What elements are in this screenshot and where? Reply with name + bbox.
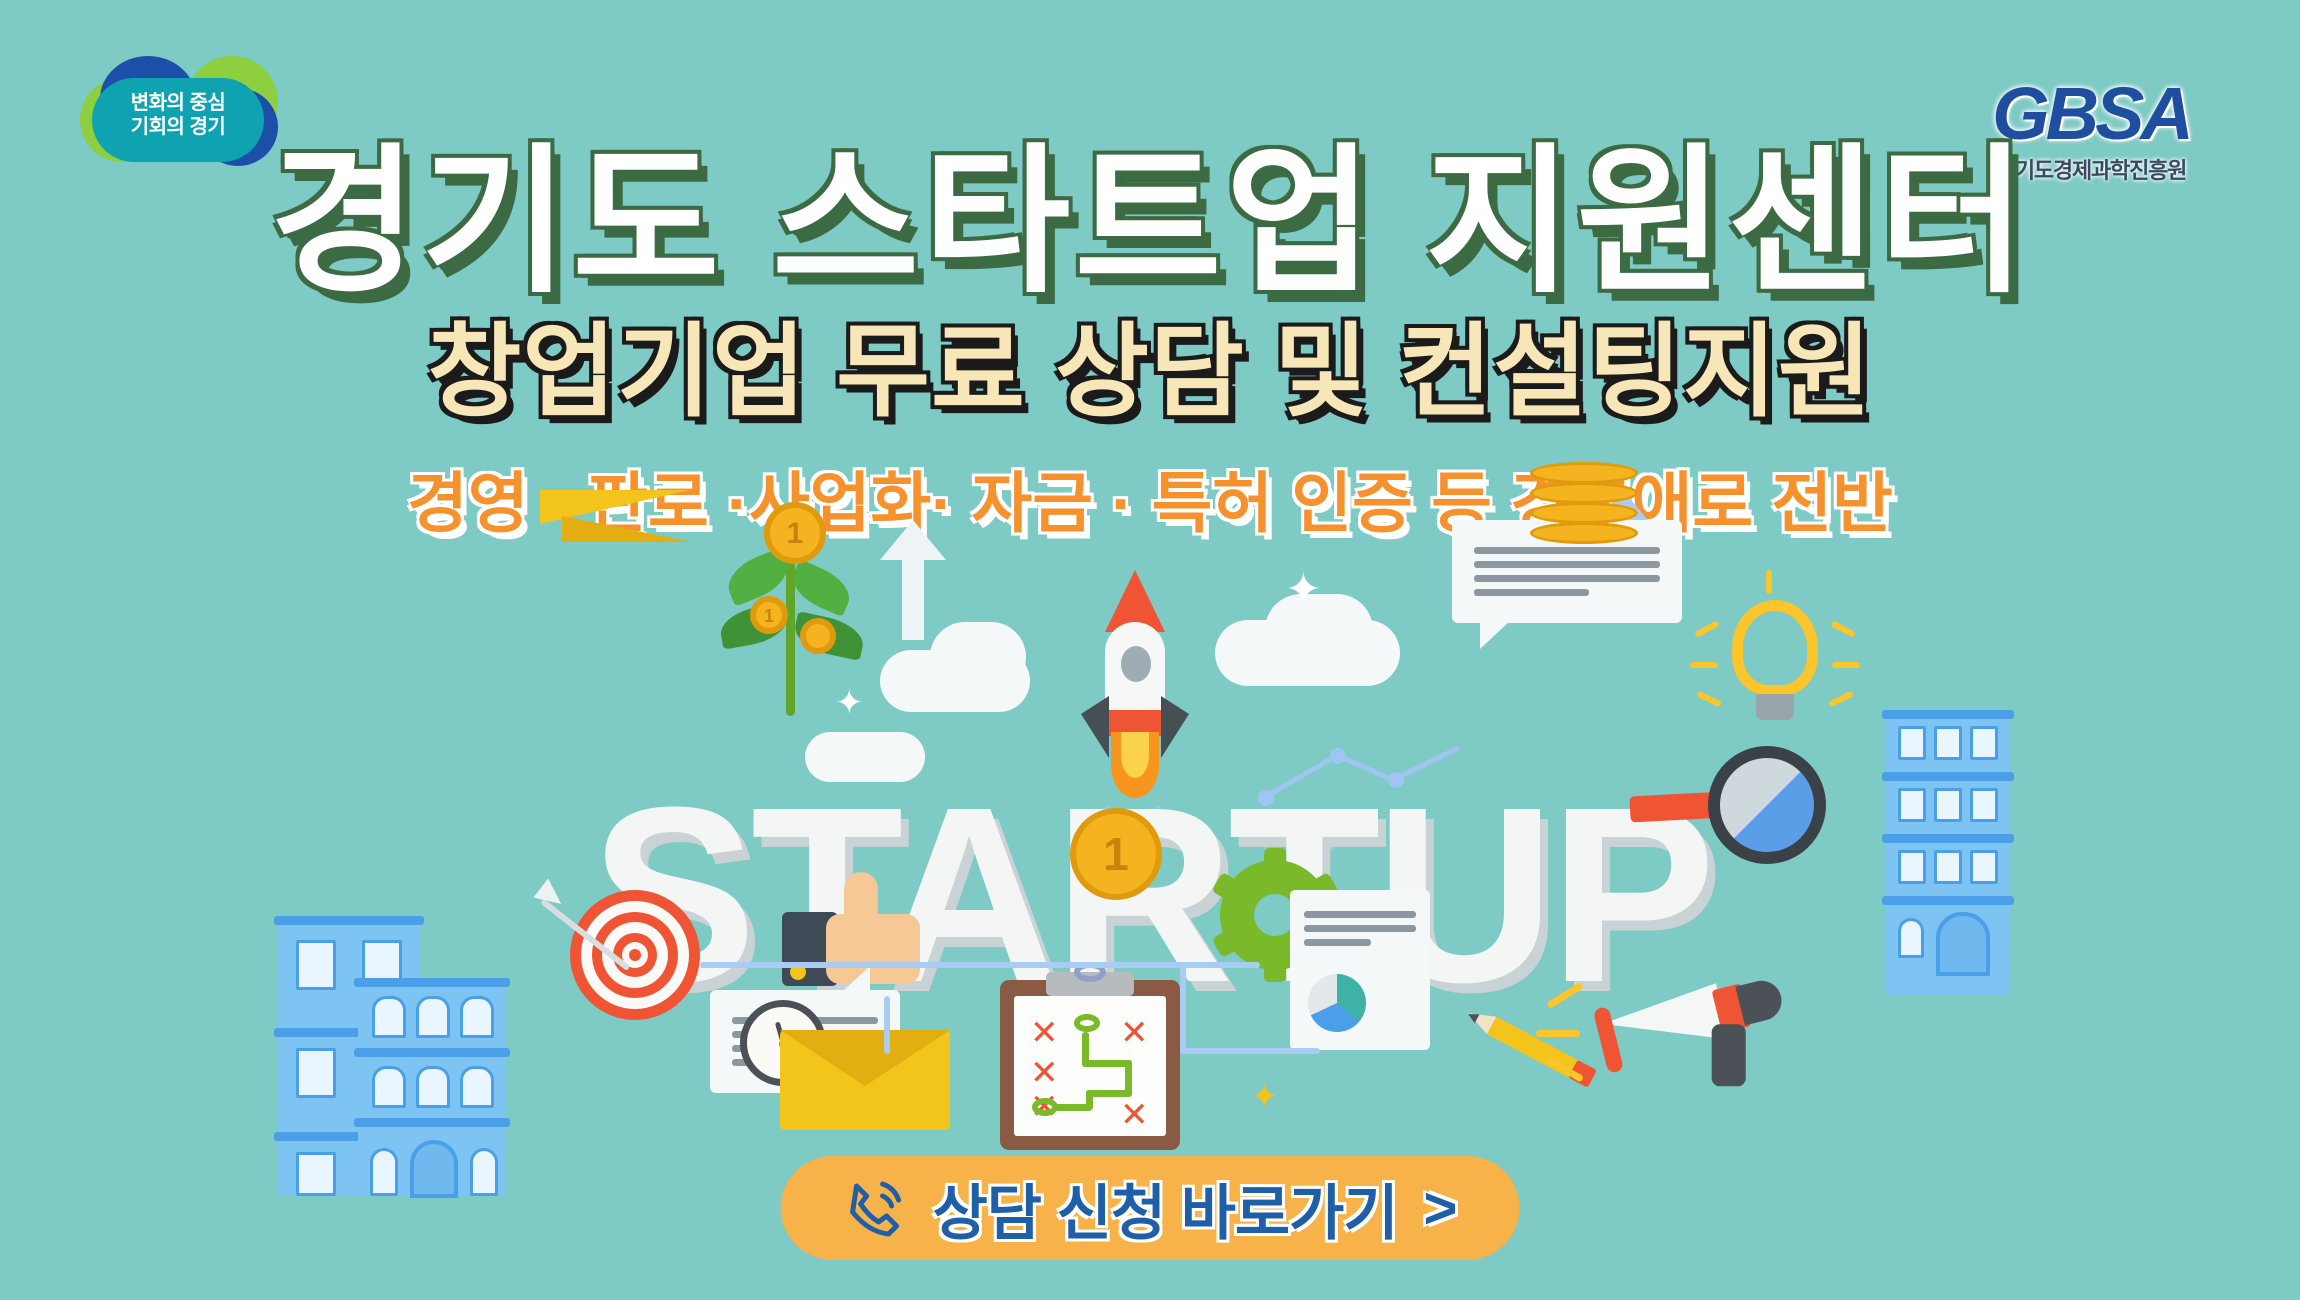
- cta-label: 상담 신청 바로가기: [933, 1165, 1398, 1252]
- logo-slogan: 변화의 중심 기회의 경기: [78, 92, 278, 139]
- building-icon: [1886, 710, 2010, 996]
- lightbulb-icon: [1720, 600, 1830, 740]
- magnifier-icon: [1630, 740, 1830, 870]
- headline-block: 경기도 스타트업 지원센터 창업기업 무료 상담 및 컨설팅지원 경영 · 판로…: [0, 140, 2300, 546]
- page-title: 경기도 스타트업 지원센터: [0, 140, 2300, 303]
- coin-stack-icon: [1530, 482, 1638, 504]
- logo-slogan-line1: 변화의 중심: [78, 92, 278, 116]
- sparkle-icon: ✦: [1285, 568, 1322, 612]
- coin-stack-icon: [1530, 462, 1638, 484]
- phone-icon: [843, 1176, 907, 1240]
- sparkle-icon: ✦: [835, 686, 864, 720]
- envelope-icon: [780, 1030, 950, 1130]
- coin-stack-icon: [1530, 502, 1638, 524]
- gold-coin-icon: 1: [1070, 808, 1162, 900]
- sparkle-icon: ✦: [1250, 1080, 1279, 1114]
- connector-line: [884, 996, 890, 1054]
- up-arrow-icon: [880, 520, 946, 640]
- connector-line: [700, 962, 1260, 968]
- illustration-stage: 1 1 ✦ ✦ ✦ ✦: [0, 560, 2300, 1200]
- logo-slogan-line2: 기회의 경기: [78, 116, 278, 140]
- building-icon: [358, 978, 506, 1196]
- service-tags: 경영 · 판로 ·사업화· 자금 · 특허 인증 등 경영애로 전반: [0, 450, 2300, 546]
- coin-stack-icon: [1530, 522, 1638, 544]
- page-subtitle: 창업기업 무료 상담 및 컨설팅지원: [0, 319, 2300, 426]
- chart-document-icon: [1290, 890, 1430, 1050]
- promo-banner: 변화의 중심 기회의 경기 GBSA 경기도경제과학진흥원 경기도 스타트업 지…: [0, 0, 2300, 1300]
- gold-coin-icon: 1: [764, 502, 826, 564]
- megaphone-ray: [1536, 1030, 1580, 1037]
- clipboard-icon: ✕ ✕ ✕ ✕ ✕: [1000, 980, 1180, 1150]
- chevron-right-icon: >: [1424, 1175, 1458, 1242]
- gold-coin-icon: [800, 618, 836, 654]
- connector-line: [1180, 1048, 1320, 1054]
- connector-line: [1180, 962, 1186, 1054]
- gold-coin-icon: 1: [750, 596, 788, 634]
- consultation-apply-button[interactable]: 상담 신청 바로가기 >: [781, 1156, 1520, 1260]
- target-icon: [570, 890, 700, 1020]
